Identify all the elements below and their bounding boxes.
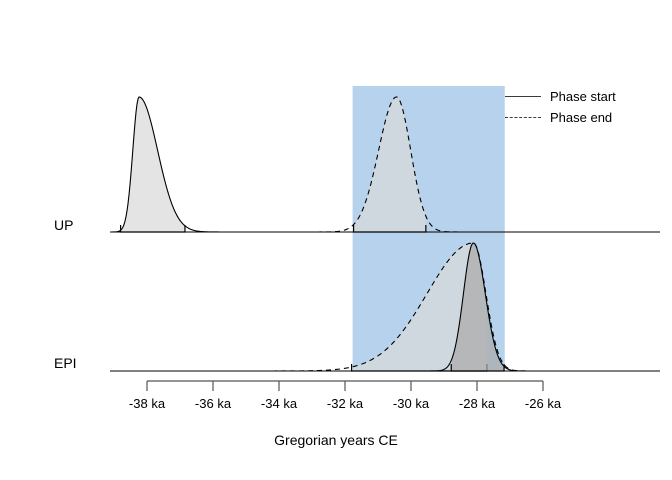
row-label-epi: EPI — [54, 355, 77, 371]
x-axis-title: Gregorian years CE — [0, 432, 672, 448]
legend-item-phase-start: Phase start — [503, 86, 663, 107]
legend-item-phase-end: Phase end — [503, 107, 663, 128]
x-tick-label-6: -26 ka — [525, 396, 561, 411]
x-tick-label-3: -32 ka — [327, 396, 363, 411]
legend: Phase start Phase end — [503, 86, 663, 130]
legend-label-phase-end: Phase end — [543, 110, 612, 125]
x-tick-label-0: -38 ka — [129, 396, 165, 411]
x-tick-label-4: -30 ka — [393, 396, 429, 411]
row-label-up: UP — [54, 217, 73, 233]
x-tick-label-1: -36 ka — [195, 396, 231, 411]
legend-line-solid-icon — [503, 90, 543, 104]
legend-label-phase-start: Phase start — [543, 89, 616, 104]
x-tick-label-2: -34 ka — [261, 396, 297, 411]
x-tick-label-5: -28 ka — [459, 396, 495, 411]
phase-density-chart: UP EPI -38 ka -36 ka -34 ka -32 ka -30 k… — [0, 0, 672, 480]
legend-line-dashed-icon — [503, 111, 543, 125]
